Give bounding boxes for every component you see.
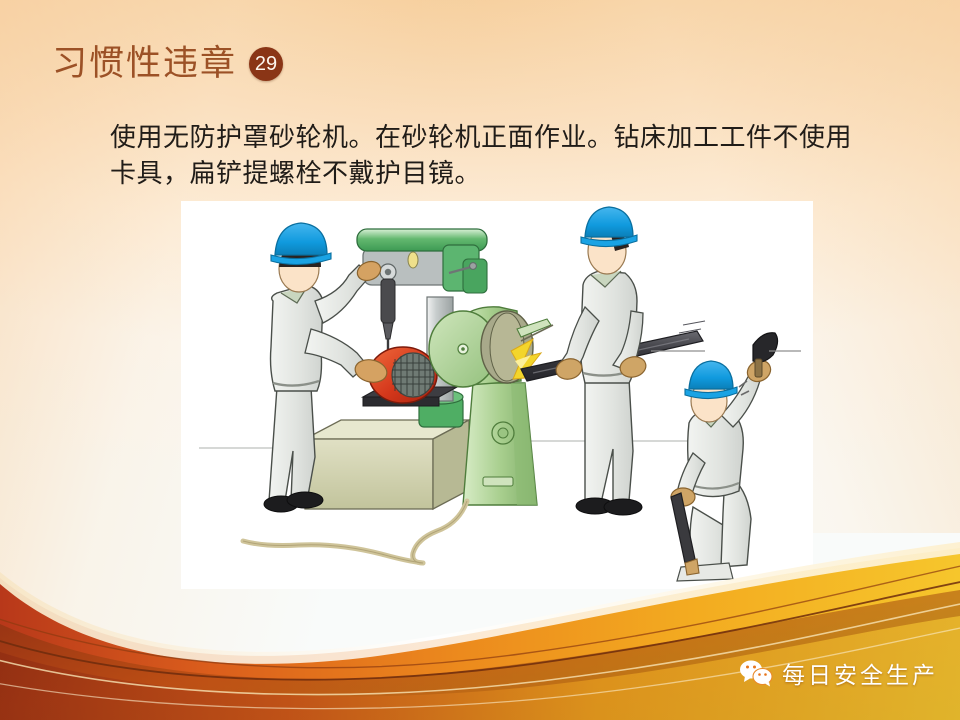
wechat-icon: [739, 659, 773, 687]
body-paragraph: 使用无防护罩砂轮机。在砂轮机正面作业。钻床加工工件不使用卡具，扁铲提螺栓不戴护目…: [110, 120, 870, 192]
page-title: 习惯性违章: [52, 46, 237, 81]
workshop-illustration: [181, 201, 813, 589]
slide-canvas: 习惯性违章 29 使用无防护罩砂轮机。在砂轮机正面作业。钻床加工工件不使用卡具，…: [0, 0, 960, 720]
workbench: [305, 420, 469, 509]
slide-heading: 习惯性违章 29: [52, 46, 283, 81]
wechat-watermark: 每日安全生产: [739, 656, 938, 690]
watermark-label: 每日安全生产: [782, 656, 938, 690]
grinder-worker: [554, 207, 648, 515]
illustration-panel: [181, 201, 813, 589]
status-badge: 29: [249, 47, 283, 81]
